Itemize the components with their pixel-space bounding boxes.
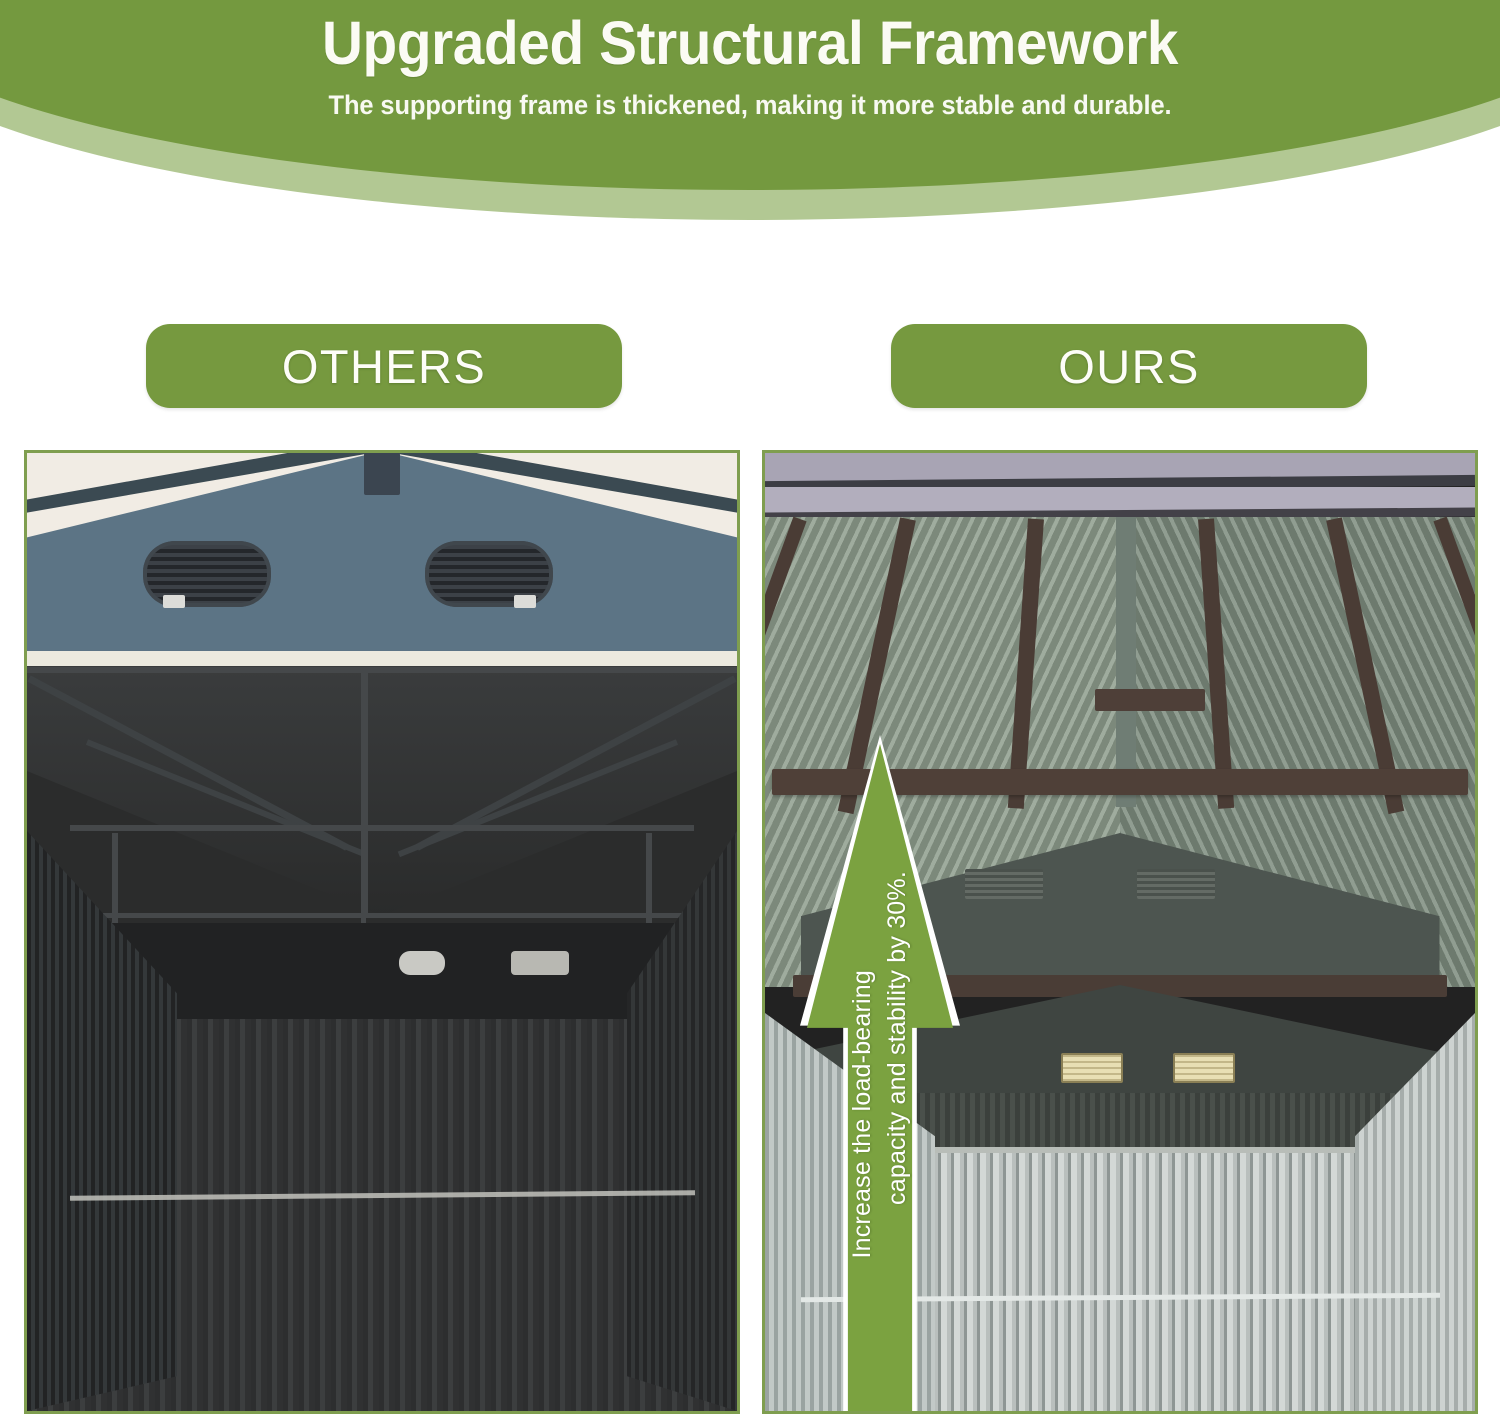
- others-beam-top: [27, 667, 737, 673]
- others-vent-tab-left: [163, 595, 185, 608]
- label-others-text: OTHERS: [282, 339, 486, 394]
- others-tie-beam-2: [70, 913, 695, 918]
- others-scene: [27, 453, 737, 1411]
- ours-ridge-plate: [1095, 689, 1205, 711]
- ours-tan-vent-2: [1173, 1053, 1235, 1083]
- arrow-text-group: Increase the load-bearing capacity and s…: [800, 735, 960, 1414]
- header-banner: Upgraded Structural Framework The suppor…: [0, 0, 1500, 250]
- ours-tan-vent-1: [1061, 1053, 1123, 1083]
- others-skylight-1: [399, 951, 445, 975]
- header-text-group: Upgraded Structural Framework The suppor…: [0, 0, 1500, 121]
- others-skylight-2: [511, 951, 569, 975]
- page-subtitle: The supporting frame is thickened, makin…: [30, 74, 1470, 121]
- others-vent-tab-right: [514, 595, 536, 608]
- label-ours-text: OURS: [1058, 339, 1199, 394]
- others-tie-beam: [70, 825, 695, 831]
- arrow-text-line-2: capacity and stability by 30%.: [883, 871, 912, 1205]
- others-ridge-block: [364, 453, 400, 495]
- photo-ours: Increase the load-bearing capacity and s…: [762, 450, 1478, 1414]
- ours-louver-vent-1: [965, 869, 1043, 899]
- arrow-text-line-1: Increase the load-bearing: [848, 970, 877, 1259]
- benefit-arrow-callout: Increase the load-bearing capacity and s…: [800, 735, 960, 1414]
- label-pill-ours: OURS: [891, 324, 1367, 408]
- label-pill-others: OTHERS: [146, 324, 622, 408]
- ours-ridge-beam: [1116, 517, 1136, 807]
- photo-others: [24, 450, 740, 1414]
- page-title: Upgraded Structural Framework: [53, 0, 1448, 74]
- ours-louver-vent-2: [1137, 869, 1215, 899]
